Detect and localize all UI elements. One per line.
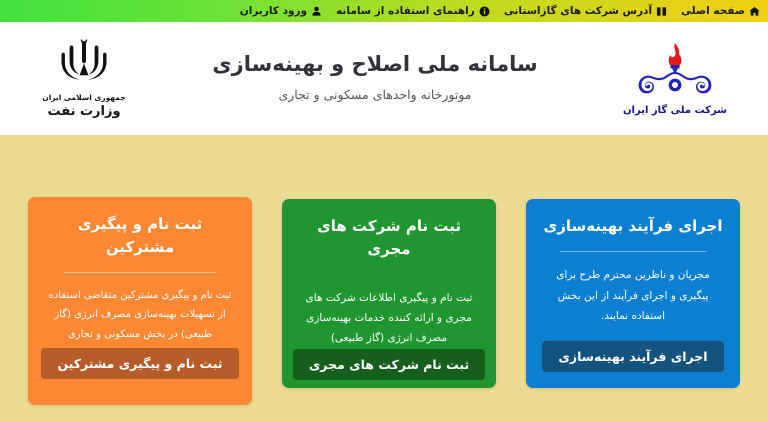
- card-body-optimization-process: مجریان و ناظرین محترم طرح برای پیگیری و …: [540, 265, 726, 326]
- user-icon: [311, 6, 322, 17]
- page-subtitle: موتورخانه واحدهای مسکونی و تجاری: [150, 86, 600, 104]
- page-title: سامانه ملی اصلاح و بهینه‌سازی: [150, 49, 600, 79]
- book-icon: [656, 6, 667, 17]
- service-cards-section: اجرای فرآیند بهینه‌سازی مجریان و ناظرین …: [0, 135, 768, 422]
- card-divider: [64, 272, 217, 273]
- top-navigation-bar: صفحه اصلی آدرس شرکت های گازاستانی راهنما…: [0, 0, 768, 22]
- ministry-of-petroleum-logo: جمهوری اسلامی ایران وزارت نفت: [18, 38, 150, 119]
- executor-companies-registration-button[interactable]: ثبت نام شرکت های مجری: [293, 349, 485, 380]
- ministry-name-label: وزارت نفت: [47, 104, 120, 119]
- nav-item-home[interactable]: صفحه اصلی: [681, 6, 760, 17]
- header-title-block: سامانه ملی اصلاح و بهینه‌سازی موتورخانه …: [150, 49, 600, 108]
- card-title-executor-companies: ثبت نام شرکت های مجری: [296, 215, 482, 262]
- nav-label-home: صفحه اصلی: [681, 6, 745, 17]
- nigc-logo-mark: [623, 41, 727, 103]
- nav-label-user-login: ورود کاربران: [240, 6, 307, 17]
- card-body-executor-companies: ثبت نام و پیگیری اطلاعات شرکت های مجری و…: [296, 288, 482, 349]
- card-body-subscribers: ثبت نام و پیگیری مشترکین متقاضی استفاده …: [42, 286, 238, 345]
- nigc-logo-caption: شرکت ملی گاز ایران: [623, 105, 727, 116]
- site-header: شرکت ملی گاز ایران سامانه ملی اصلاح و به…: [0, 22, 768, 135]
- nigc-logo: شرکت ملی گاز ایران: [600, 41, 750, 116]
- info-icon: [479, 6, 490, 17]
- nav-label-provincial-gas-company-addresses: آدرس شرکت های گازاستانی: [504, 6, 652, 17]
- card-executor-companies-registration[interactable]: ثبت نام شرکت های مجری ثبت نام و پیگیری ا…: [282, 199, 496, 388]
- card-optimization-process[interactable]: اجرای فرآیند بهینه‌سازی مجریان و ناظرین …: [526, 199, 740, 388]
- nav-item-user-login[interactable]: ورود کاربران: [240, 6, 322, 17]
- iran-emblem-icon: [56, 38, 112, 90]
- page-root: صفحه اصلی آدرس شرکت های گازاستانی راهنما…: [0, 0, 768, 422]
- home-icon: [749, 6, 760, 17]
- ministry-country-label: جمهوری اسلامی ایران: [42, 93, 125, 102]
- nav-item-provincial-gas-company-addresses[interactable]: آدرس شرکت های گازاستانی: [504, 6, 667, 17]
- nav-label-system-usage-guide: راهنمای استفاده از سامانه: [336, 6, 475, 17]
- card-title-optimization-process: اجرای فرآیند بهینه‌سازی: [544, 215, 723, 238]
- card-divider: [560, 251, 705, 252]
- card-title-subscribers: ثبت نام و پیگیری مشترکین: [42, 213, 238, 260]
- optimization-process-button[interactable]: اجرای فرآیند بهینه‌سازی: [542, 341, 723, 372]
- nav-item-system-usage-guide[interactable]: راهنمای استفاده از سامانه: [336, 6, 490, 17]
- subscribers-registration-button[interactable]: ثبت نام و پیگیری مشترکین: [41, 348, 238, 379]
- card-subscribers-registration[interactable]: ثبت نام و پیگیری مشترکین ثبت نام و پیگیر…: [28, 197, 252, 405]
